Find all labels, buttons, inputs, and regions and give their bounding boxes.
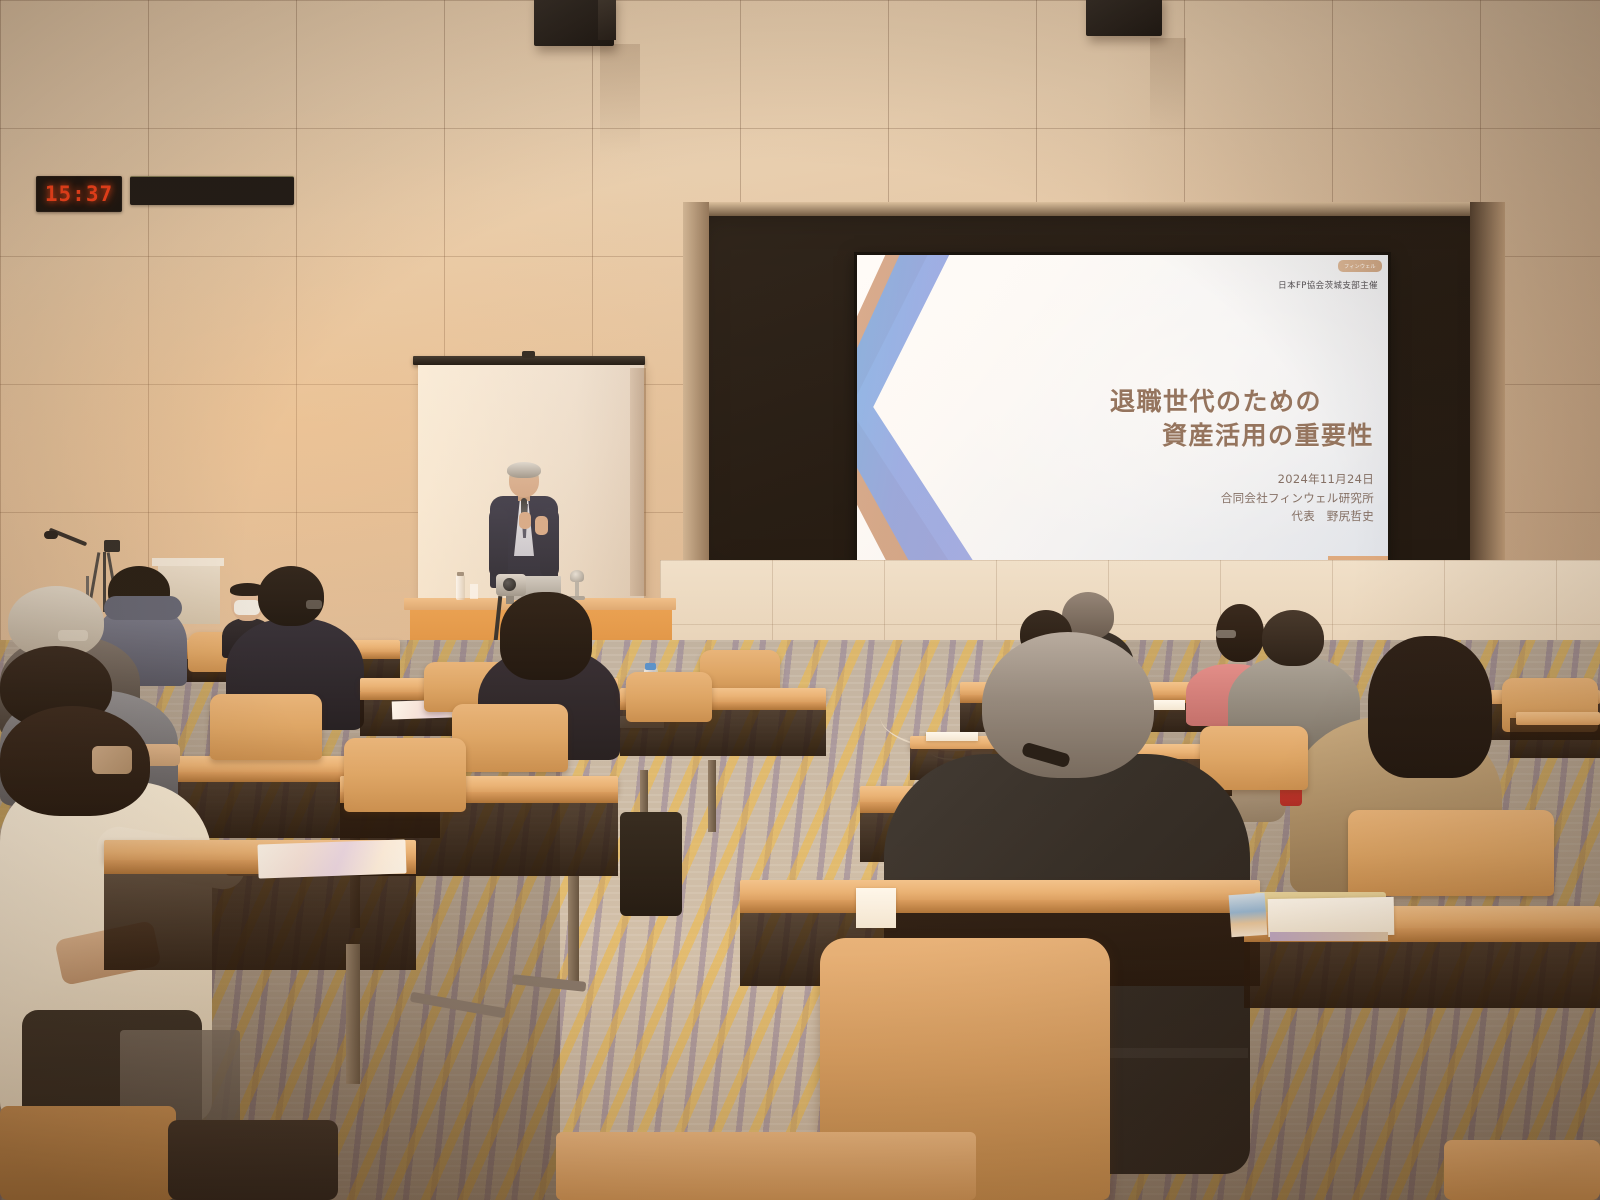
slide-title-line1: 退職世代のための (1110, 385, 1374, 419)
rolldown-screen-knob (522, 351, 535, 358)
desk-foreground-bottom (556, 1132, 976, 1200)
desk-microphone-head (570, 570, 584, 582)
chair-empty (210, 694, 322, 760)
water-bottle-cap (645, 663, 656, 670)
face-mask-icon (234, 600, 260, 615)
chair-empty (1348, 810, 1554, 896)
brochure (1229, 893, 1268, 937)
desk-edge (740, 900, 1260, 913)
handout-right-clipboard (926, 732, 978, 741)
slide-presenter-name: 代表 野尻哲史 (1221, 507, 1374, 526)
water-bottle (456, 575, 465, 600)
chair-foreground-far-right (1444, 1140, 1600, 1200)
chair-empty (626, 672, 712, 722)
attendee-left-suit-head (258, 566, 324, 626)
ceiling-speaker-right-icon (1086, 0, 1162, 36)
presenter-right-hand (535, 516, 548, 535)
blank-info-display (130, 176, 294, 205)
clock-time-text: 15:37 (45, 182, 113, 206)
hoodie-collar (104, 596, 182, 620)
rolldown-screen-right-edge (630, 368, 646, 596)
table-row (1516, 712, 1600, 725)
attendee-right-grey-vest-head (1262, 610, 1324, 666)
chair-empty (452, 704, 568, 772)
speaker-shadow-left (600, 44, 640, 154)
led-wall-clock: 15:37 (36, 176, 122, 212)
ceiling-speaker-left-side (598, 0, 616, 40)
camera-tripod-head (104, 540, 120, 552)
desk-leg (708, 760, 716, 832)
slide-company: 合同会社フィンウェル研究所 (1221, 489, 1374, 508)
attendee-right-tan-coat-hair (1368, 636, 1492, 778)
floor-bag-foreground (168, 1120, 338, 1200)
slide-meta-block: 2024年11月24日 合同会社フィンウェル研究所 代表 野尻哲史 (1221, 470, 1374, 526)
chair-empty (344, 738, 466, 812)
presenter-hair (507, 462, 541, 478)
table-row (740, 880, 1260, 902)
handout-left (257, 839, 406, 878)
slide-logo-badge: フィンウェル (1338, 260, 1382, 272)
alcove-top-edge (683, 202, 1505, 216)
slide-title: 退職世代のための 資産活用の重要性 (1110, 385, 1374, 452)
alcove-left-edge (683, 202, 709, 587)
presenter-left-arm (489, 508, 508, 578)
presenter-left-hand (519, 512, 531, 529)
side-podium-top (152, 558, 224, 566)
water-bottle-cap (457, 572, 464, 576)
glasses-icon (1216, 630, 1236, 638)
brochure-edge (1270, 932, 1388, 941)
photo-seminar-hall: 15:37 フィンウェル 日本FP協会茨城支部主催 退職世代のための 資産活用の… (0, 0, 1600, 1200)
microphone-head-icon (44, 531, 58, 539)
slide-date: 2024年11月24日 (1221, 470, 1374, 489)
chair-seat-foreground (0, 1106, 176, 1200)
drinking-glass (470, 584, 478, 599)
glasses-icon (306, 600, 322, 609)
attendee-center-long-hair-head (500, 592, 592, 680)
slide-title-line2: 資産活用の重要性 (1110, 419, 1374, 453)
floor-bag (620, 812, 682, 916)
ptz-camera-lens-icon (503, 578, 516, 591)
slide-host-line: 日本FP協会茨城支部主催 (1278, 279, 1378, 291)
alcove-right-edge (1470, 202, 1505, 587)
glasses-icon (58, 630, 88, 641)
desk-leg (346, 944, 360, 1084)
speaker-shadow-right (1150, 38, 1186, 138)
desk-leg (568, 876, 579, 986)
projection-screen: フィンウェル 日本FP協会茨城支部主催 退職世代のための 資産活用の重要性 20… (857, 255, 1388, 565)
scarf-collar (92, 746, 132, 774)
handout-right-clipboard (856, 888, 896, 928)
